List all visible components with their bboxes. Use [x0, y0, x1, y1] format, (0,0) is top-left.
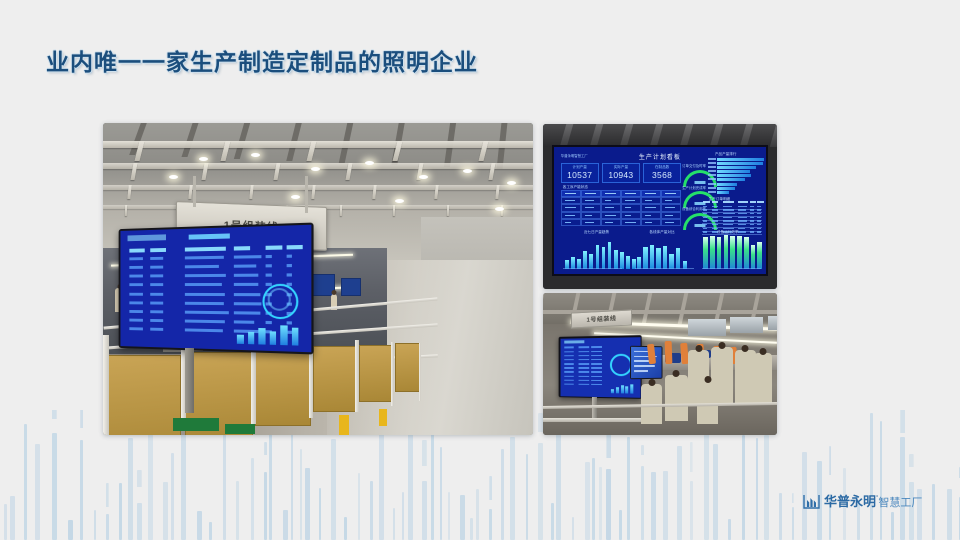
matrix-cell — [661, 212, 681, 219]
matrix-cell-text — [605, 215, 616, 216]
matrix-cell — [641, 204, 661, 211]
line-monitor-row — [591, 350, 602, 352]
order-table-header-cell — [723, 201, 734, 203]
ceiling-column — [124, 205, 126, 216]
order-table-cell — [712, 224, 718, 226]
decorative-bar — [476, 489, 479, 540]
line-monitor-row — [579, 367, 589, 369]
decorative-bar — [319, 488, 321, 540]
decorative-bar — [106, 514, 109, 540]
ceiling-rib — [680, 124, 694, 147]
decorative-bar — [370, 481, 373, 540]
chart-mid-bar — [643, 247, 647, 269]
line-dashboard-monitor — [118, 223, 313, 355]
chart-mid-bar — [656, 248, 660, 269]
line-monitor-row — [591, 383, 602, 385]
matrix-cell-text — [645, 215, 651, 216]
decorative-bar — [728, 519, 731, 540]
decorative-bar — [379, 419, 384, 540]
decorative-bar — [80, 440, 83, 540]
matrix-cell — [661, 219, 681, 226]
order-table-cell — [712, 209, 718, 211]
ranking-label — [708, 191, 716, 193]
order-table-cell — [750, 217, 754, 219]
monitor-column-header — [234, 246, 250, 250]
ranking-bar — [717, 191, 729, 194]
ranking-label — [708, 183, 716, 185]
line-monitor-row — [579, 375, 589, 377]
ceiling-lamp — [365, 161, 374, 165]
matrix-cell-text — [645, 222, 651, 223]
decorative-bar — [137, 503, 142, 540]
monitor-table-cell — [150, 328, 163, 331]
decorative-bar — [556, 420, 561, 540]
matrix-cell — [561, 204, 581, 211]
worker-head — [759, 348, 766, 355]
order-table-cell — [738, 224, 746, 226]
railing-panel — [359, 345, 393, 402]
line-monitor-row — [579, 379, 589, 381]
line-monitor-row — [579, 383, 589, 385]
ranking-title: 产品产量排行 — [715, 152, 737, 157]
decorative-bar — [269, 432, 272, 540]
chart-left-bar — [602, 247, 606, 269]
decorative-bar — [236, 481, 239, 540]
decorative-bar — [690, 481, 693, 540]
matrix-cell-text — [605, 207, 613, 208]
line-monitor-row — [579, 371, 589, 373]
decorative-bar — [344, 517, 347, 540]
footer-tagline: 智慧工厂 — [878, 497, 922, 509]
order-table-cell — [757, 220, 761, 222]
order-table-cell — [723, 213, 734, 215]
line-monitor-row — [565, 379, 574, 381]
ceiling-rib — [620, 124, 634, 147]
decorative-bar — [713, 444, 718, 540]
monitor-column-header — [150, 248, 166, 252]
ceiling-column — [447, 205, 449, 216]
ceiling-lamp — [419, 175, 428, 179]
matrix-cell-text — [585, 193, 596, 194]
order-table-cell — [712, 220, 718, 222]
decorative-bar — [251, 458, 254, 540]
decorative-bar — [171, 453, 174, 540]
decorative-bar — [460, 495, 465, 540]
line-monitor-row — [591, 367, 602, 369]
monitor-column-header — [129, 249, 145, 253]
line-monitor-row — [565, 363, 574, 365]
decorative-bar — [792, 507, 794, 540]
decorative-bar — [197, 511, 202, 540]
monitor-table-cell — [129, 257, 143, 260]
line-overhead-sign-text: 1号组装线 — [587, 314, 617, 325]
line-monitor-row — [591, 354, 602, 356]
line-monitor-row — [579, 350, 589, 352]
ceiling-rib — [560, 124, 574, 147]
gauge-label: 订单交付及时率 — [682, 163, 706, 168]
ceiling-lamp — [169, 175, 178, 179]
line-monitor-row — [579, 363, 589, 365]
chart-left-bar — [620, 252, 624, 269]
foreground-railing-lower — [543, 418, 641, 422]
matrix-cell-text — [665, 193, 676, 194]
matrix-cell — [641, 197, 661, 204]
order-table-cell — [750, 206, 754, 208]
order-table-cell — [757, 217, 761, 219]
decorative-bar — [431, 429, 434, 540]
footer-brand-text: 华普永明 — [824, 494, 876, 509]
decorative-bar — [891, 512, 894, 540]
line-worker — [665, 375, 688, 420]
line-monitor-row — [579, 359, 589, 361]
monitor-table-cell — [150, 310, 163, 313]
ceiling-column — [127, 185, 131, 199]
chart-right-bar — [757, 242, 762, 269]
decorative-bar — [526, 454, 528, 540]
kpi-label: 在制品数 — [644, 165, 680, 170]
decorative-bar — [756, 438, 758, 540]
decorative-bar — [932, 484, 935, 540]
ranking-label — [708, 174, 716, 176]
order-table-cell — [703, 209, 706, 211]
line-monitor-row — [565, 350, 574, 352]
matrix-cell-text — [565, 193, 576, 194]
matrix-cell — [641, 212, 661, 219]
matrix-cell — [601, 219, 621, 226]
matrix-cell-text — [645, 207, 656, 208]
kpi-card: 在制品数3568 — [643, 163, 681, 183]
kpi-label: 计划产量 — [562, 165, 598, 170]
chart-right-bar — [730, 236, 735, 269]
chart-right-bar — [710, 236, 715, 269]
order-table-cell — [757, 228, 761, 230]
factory-mark-icon — [803, 494, 820, 509]
matrix-cell — [621, 204, 641, 211]
monitor-table-cell — [129, 319, 143, 322]
matrix-cell-text — [665, 207, 675, 208]
matrix-cell-text — [605, 222, 613, 223]
decorative-bar — [331, 439, 336, 540]
floor-marker — [339, 415, 349, 435]
decorative-bar — [300, 449, 302, 540]
chart-axis — [635, 268, 694, 269]
decorative-bar — [572, 517, 574, 540]
ceiling-rib — [650, 124, 664, 147]
order-table-cell — [738, 231, 745, 233]
order-table-cell — [703, 224, 706, 226]
order-table-cell — [703, 206, 706, 208]
chart-left-title: 近七日产量趋势 — [584, 230, 609, 235]
decorative-bar — [119, 483, 122, 540]
sign-hanger — [305, 176, 308, 213]
line-monitor-row — [565, 367, 574, 369]
monitor-logo — [127, 234, 166, 241]
monitor-table-cell — [184, 329, 223, 333]
monitor-table-cell — [150, 283, 163, 286]
ranking-bar — [717, 170, 750, 173]
matrix-cell-text — [645, 193, 656, 194]
monitor-table-cell — [265, 321, 271, 324]
order-table-header-cell — [738, 201, 748, 203]
decorative-bar — [677, 446, 682, 540]
decorative-bar — [599, 467, 602, 540]
line-monitor-row — [591, 371, 602, 373]
raised-arm — [664, 341, 672, 364]
monitor-table-cell — [129, 266, 143, 269]
monitor-table-cell — [129, 310, 143, 313]
decorative-bar — [470, 518, 473, 540]
order-table-cell — [750, 228, 754, 230]
monitor-table-cell — [184, 274, 226, 277]
ranking-label — [708, 170, 716, 172]
matrix-cell-text — [585, 200, 594, 201]
chart-left-bar — [583, 251, 587, 268]
matrix-cell-text — [625, 193, 636, 194]
matrix-cell — [581, 219, 601, 226]
order-table-cell — [723, 206, 731, 208]
line-monitor-row — [565, 383, 574, 385]
decorative-bar — [24, 424, 27, 540]
chart-mid-bar — [669, 254, 673, 268]
tablet-row — [634, 370, 647, 372]
monitor-table-cell — [129, 283, 143, 286]
monitor-column-header — [184, 247, 226, 251]
ceiling-rib — [710, 124, 724, 147]
monitor-chart-bar — [258, 328, 265, 344]
worker-head — [742, 345, 749, 352]
decorative-bar — [4, 504, 7, 540]
railing-post — [103, 335, 109, 435]
chart-right-bar — [744, 237, 749, 269]
production-dashboard-screen-photo: 生产计划看板 华普永明智慧工厂 计划产量10537实际产量10943在制品数35… — [543, 124, 777, 289]
line-monitor-row — [565, 346, 574, 348]
decorative-bar — [264, 472, 267, 540]
decorative-bar — [764, 435, 769, 540]
ceiling-lamp — [507, 181, 516, 185]
railing-panel — [105, 355, 181, 435]
monitor-table-cell — [129, 327, 143, 330]
matrix-cell — [661, 204, 681, 211]
matrix-cell-text — [565, 222, 571, 223]
decorative-bar — [422, 481, 427, 540]
matrix-cell-text — [665, 222, 673, 223]
order-table-cell — [750, 209, 754, 211]
decorative-bar — [209, 522, 212, 540]
order-table-header-cell — [712, 201, 718, 203]
worker-head — [718, 342, 725, 349]
order-table-cell — [757, 231, 761, 233]
monitor-table-cell — [265, 255, 271, 258]
order-table-cell — [738, 213, 746, 215]
decorative-bar — [663, 471, 668, 540]
monitor-chart-bar — [291, 328, 298, 345]
chart-right-title: 设备运行效率 — [717, 230, 739, 235]
decorative-bar — [440, 447, 442, 540]
order-table-cell — [757, 206, 761, 208]
matrix-cell-text — [665, 215, 673, 216]
ranking-label — [708, 158, 716, 160]
matrix-cell-text — [665, 200, 672, 201]
ranking-bar — [717, 183, 737, 186]
ceiling-lamp — [395, 199, 404, 203]
monitor-chart-bar — [269, 331, 276, 345]
monitor-table-cell — [265, 274, 271, 277]
monitor-chart-bar — [237, 335, 244, 344]
monitor-table-cell — [129, 292, 143, 295]
matrix-cell — [621, 212, 641, 219]
chart-mid-title: 各线体产量对比 — [649, 230, 674, 235]
worker-head — [704, 376, 711, 383]
monitor-table-cell — [234, 255, 261, 259]
decorative-bar — [358, 473, 360, 540]
order-table-cell — [723, 209, 734, 211]
decorative-bar — [148, 434, 153, 540]
ceiling-lamp — [311, 167, 320, 171]
order-table-header-cell — [703, 201, 709, 203]
order-table-cell — [703, 231, 706, 233]
kpi-value: 3568 — [644, 170, 680, 180]
matrix-cell-text — [585, 222, 593, 223]
monitor-table-cell — [150, 292, 163, 295]
ceiling-column — [311, 185, 315, 199]
matrix-cell — [601, 212, 621, 219]
matrix-header-cell — [601, 190, 621, 197]
order-table-cell — [757, 213, 761, 215]
order-table-header-cell — [757, 201, 763, 203]
monitor-table-cell — [234, 302, 262, 305]
decorative-bar — [181, 419, 186, 540]
ceiling-column — [202, 163, 209, 180]
monitor-chart-bar — [280, 325, 287, 345]
decorative-bar — [68, 520, 73, 540]
roof-rib — [181, 123, 198, 157]
order-table-cell — [750, 224, 754, 226]
ceiling-beam — [103, 141, 533, 148]
ceiling-rib — [740, 124, 754, 147]
decorative-bar — [128, 438, 133, 540]
monitor-table-cell — [184, 255, 224, 259]
line-worker — [754, 353, 773, 404]
ceiling-beam — [543, 293, 544, 324]
decorative-bar — [870, 413, 873, 540]
order-table-cell — [712, 213, 718, 215]
monitor-table-cell — [150, 319, 163, 322]
line-monitor-row — [591, 363, 602, 365]
ranking-bar — [717, 162, 763, 165]
floor-marker — [379, 409, 387, 426]
order-table-cell — [757, 209, 761, 211]
line-monitor-bar — [621, 385, 624, 393]
monitor-table-cell — [184, 292, 224, 295]
ranking-bar — [717, 187, 735, 190]
order-table-cell — [750, 231, 754, 233]
decorative-bar — [305, 468, 310, 540]
tablet-row — [634, 365, 654, 367]
kpi-card: 计划产量10537 — [561, 163, 599, 183]
matrix-header-cell — [641, 190, 661, 197]
dashboard-screen-title: 生产计划看板 — [639, 152, 681, 161]
decorative-bar — [641, 466, 644, 540]
factory-assembly-aisle-photo: 1号组装线 Assembly line 1 — [103, 123, 533, 435]
decorative-bar — [283, 510, 288, 540]
background-window — [688, 319, 725, 336]
chart-left-bar — [596, 245, 600, 268]
monitor-table-cell — [286, 254, 292, 257]
ceiling-column — [495, 185, 499, 199]
chart-left-bar — [589, 254, 593, 268]
order-table-cell — [723, 217, 732, 219]
ceiling-lamp — [251, 153, 260, 157]
chart-left-bar — [608, 242, 612, 269]
matrix-cell — [561, 212, 581, 219]
monitor-table-cell — [234, 311, 261, 315]
ranking-bar — [717, 166, 756, 169]
decorative-bar — [606, 469, 611, 540]
matrix-cell — [621, 197, 641, 204]
decorative-bar — [651, 472, 656, 540]
order-table-cell — [703, 220, 706, 222]
ceiling-rib — [770, 124, 777, 147]
decorative-bar — [408, 430, 413, 540]
chart-mid-bar — [663, 246, 667, 269]
matrix-cell-text — [605, 193, 616, 194]
line-monitor-row — [591, 375, 602, 377]
green-parts-tray — [173, 418, 219, 431]
monitor-table-cell — [234, 320, 254, 324]
matrix-cell — [561, 219, 581, 226]
ceiling-column — [188, 185, 192, 199]
decorative-bar — [510, 437, 515, 540]
workstation-tablet — [630, 345, 662, 378]
monitor-table-cell — [286, 264, 292, 267]
line-monitor-bar — [631, 384, 634, 394]
dashboard-display-screen: 生产计划看板 华普永明智慧工厂 计划产量10537实际产量10943在制品数35… — [552, 145, 767, 275]
railing-panel — [395, 343, 421, 392]
ceiling-lamp — [463, 169, 472, 173]
decorative-bar — [52, 433, 57, 540]
decorative-bar — [393, 508, 395, 540]
matrix-cell — [621, 219, 641, 226]
line-monitor-bar — [616, 387, 619, 393]
monitor-stand — [185, 348, 194, 414]
chart-mid-bar — [650, 245, 654, 268]
monitor-table-cell — [184, 301, 223, 304]
ceiling-column — [339, 205, 341, 216]
chart-right-bar — [724, 235, 729, 268]
order-table-cell — [723, 224, 732, 226]
monitor-table-cell — [184, 283, 221, 286]
dashboard-screen-logo: 华普永明智慧工厂 — [561, 153, 588, 158]
chart-left-bar — [626, 256, 630, 269]
ceiling-lamp — [495, 207, 504, 211]
order-table-cell — [712, 217, 718, 219]
order-table-cell — [703, 213, 706, 215]
chart-right-bar — [737, 236, 742, 269]
ceiling-column — [373, 185, 377, 199]
railing-panel — [255, 349, 311, 426]
ceiling-beam — [103, 185, 533, 190]
chart-mid-bar — [676, 248, 680, 268]
order-table-cell — [738, 217, 747, 219]
line-monitor-row — [579, 354, 589, 356]
matrix-cell-text — [565, 215, 575, 216]
decorative-bar — [10, 496, 15, 540]
monitor-table-cell — [150, 274, 163, 277]
monitor-table-cell — [265, 264, 271, 267]
decorative-bar — [94, 510, 96, 540]
monitor-table-cell — [234, 264, 256, 267]
worker-head — [648, 379, 655, 386]
